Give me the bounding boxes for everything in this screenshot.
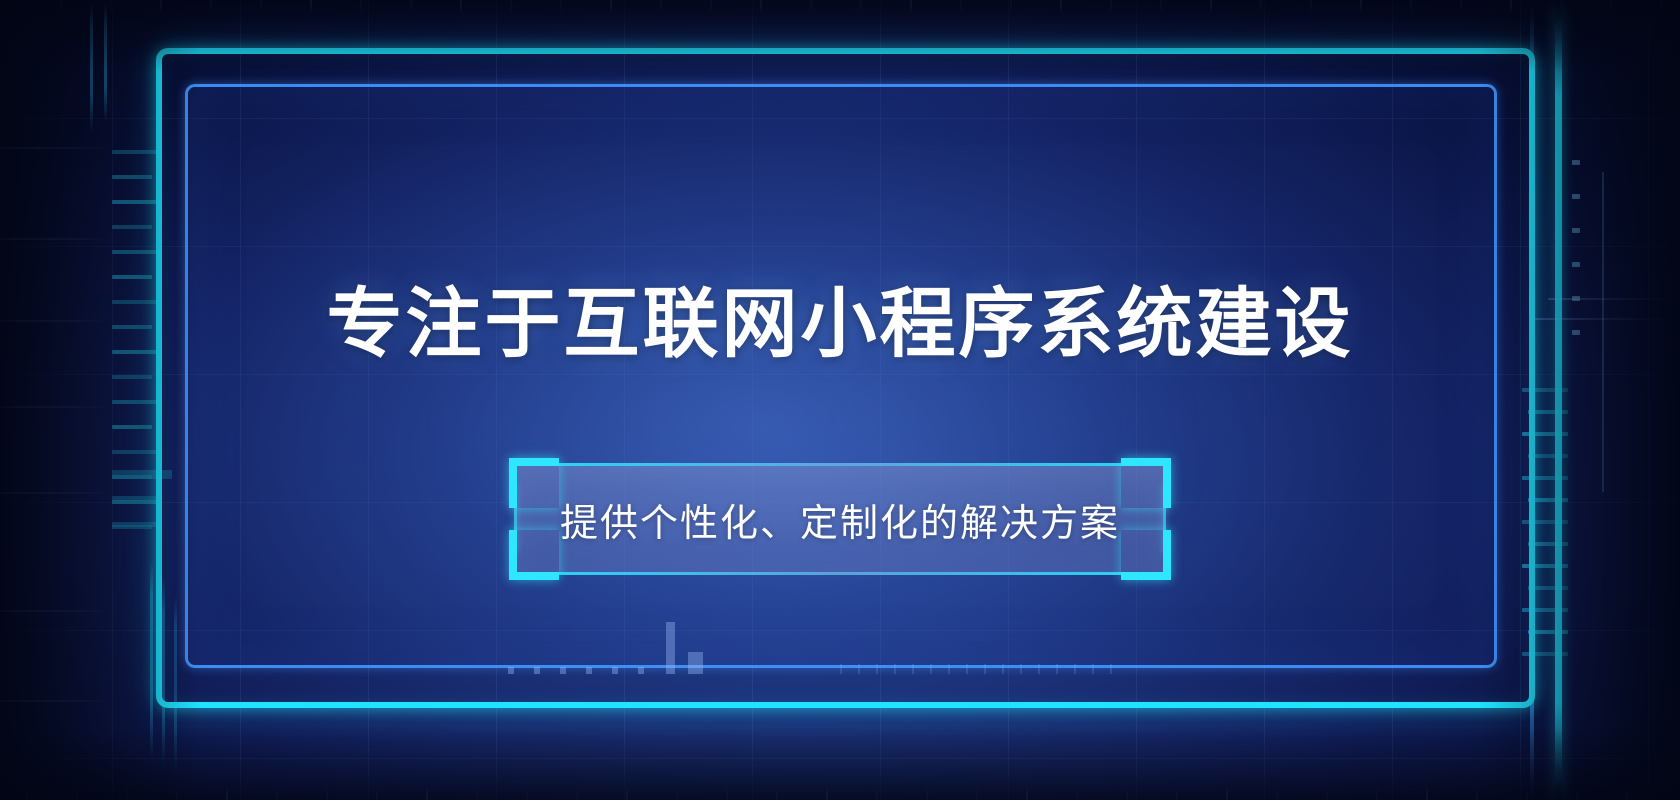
tick-mark: [1626, 787, 1628, 800]
subtitle-frame: 提供个性化、定制化的解决方案: [517, 466, 1163, 572]
tick-mark: [1560, 0, 1562, 13]
tick-mark: [10, 0, 12, 13]
tick-mark: [840, 664, 842, 674]
mini-bar: [534, 667, 540, 674]
tick-mark: [810, 0, 812, 13]
top-ruler: [0, 0, 1680, 16]
tick-mark: [112, 200, 158, 204]
tick-mark: [112, 275, 152, 279]
tick-mark: [112, 522, 158, 527]
tick-mark: [1020, 664, 1022, 674]
tick-mark: [1260, 0, 1262, 13]
tick-mark: [510, 0, 512, 13]
right-glow-bar: [1530, 0, 1534, 800]
tick-mark: [112, 450, 158, 454]
tick-mark: [1110, 0, 1112, 13]
tick-mark: [426, 787, 428, 800]
tick-mark: [966, 664, 968, 674]
right-glow-bar: [1555, 0, 1562, 800]
tick-mark: [1526, 787, 1528, 800]
right-scale-ticks: [1522, 388, 1568, 678]
tick-mark: [984, 664, 986, 674]
tick-mark: [1528, 454, 1568, 458]
tick-mark: [1576, 787, 1578, 800]
tick-mark: [260, 0, 262, 13]
tick-mark: [1002, 664, 1004, 674]
tick-mark: [360, 0, 362, 13]
tick-mark: [776, 787, 778, 800]
pinstripe-decor: [150, 560, 153, 760]
tick-mark: [226, 787, 228, 800]
rule-decor: [0, 238, 104, 240]
tick-mark: [1522, 476, 1568, 480]
tick-mark: [1160, 0, 1162, 13]
tick-mark: [1572, 296, 1580, 301]
tick-mark: [112, 470, 172, 479]
tick-mark: [276, 787, 278, 800]
rule-decor: [0, 406, 104, 408]
rule-decor: [1530, 318, 1680, 320]
tick-mark: [610, 0, 612, 13]
tick-mark: [1210, 0, 1212, 13]
mini-bar: [612, 667, 618, 674]
tick-mark: [894, 664, 896, 674]
tick-mark: [1528, 542, 1568, 546]
tick-mark: [1326, 787, 1328, 800]
tick-mark: [310, 0, 312, 13]
tick-mark: [930, 664, 932, 674]
headline-container: 专注于互联网小程序系统建设: [0, 284, 1680, 366]
rule-decor: [0, 492, 104, 494]
tick-mark: [112, 250, 158, 254]
pinstripe-decor: [104, 0, 107, 122]
tick-mark: [1476, 787, 1478, 800]
tick-mark: [676, 787, 678, 800]
tick-mark: [112, 225, 152, 229]
tick-mark: [1038, 664, 1040, 674]
mini-bar: [560, 667, 566, 674]
rule-decor: [0, 700, 104, 702]
tick-mark: [112, 525, 152, 529]
page-title: 专注于互联网小程序系统建设: [327, 284, 1354, 366]
tick-mark: [112, 350, 158, 354]
tick-mark: [726, 787, 728, 800]
tick-mark: [1522, 432, 1568, 436]
mini-bar: [688, 652, 703, 674]
tick-mark: [1510, 0, 1512, 13]
tick-mark: [1376, 787, 1378, 800]
tick-mark: [858, 664, 860, 674]
tick-mark: [460, 0, 462, 13]
tick-mark: [1572, 194, 1580, 199]
tick-mark: [1460, 0, 1462, 13]
tick-mark: [1572, 160, 1580, 165]
left-scale-ticks: [112, 150, 158, 550]
tick-mark: [576, 787, 578, 800]
tick-mark: [112, 325, 152, 329]
tick-mark: [1060, 0, 1062, 13]
tick-mark: [1226, 787, 1228, 800]
tick-mark: [1522, 564, 1568, 568]
tick-mark: [112, 150, 158, 154]
tick-mark: [1528, 630, 1568, 634]
mini-bar: [666, 622, 675, 674]
tick-mark: [1572, 228, 1580, 233]
tick-mark: [112, 496, 158, 501]
mini-bar: [586, 667, 592, 674]
tick-mark: [1310, 0, 1312, 13]
edge-vignette: [0, 0, 1680, 800]
pinstripe-decor: [90, 0, 93, 132]
tick-mark: [1522, 608, 1568, 612]
tick-mark: [660, 0, 662, 13]
tick-mark: [976, 787, 978, 800]
tick-mark: [912, 664, 914, 674]
tick-mark: [210, 0, 212, 13]
pinstripe-decor: [162, 578, 165, 768]
tick-mark: [1522, 388, 1568, 392]
pinstripe-decor: [174, 596, 177, 776]
tick-mark: [110, 0, 112, 13]
tick-mark: [1610, 0, 1612, 13]
right-thin-line: [1602, 172, 1604, 492]
tick-mark: [826, 787, 828, 800]
tick-mark: [112, 175, 152, 179]
tick-mark: [760, 0, 762, 13]
tick-mark: [1056, 664, 1058, 674]
tick-mark: [112, 425, 152, 429]
tick-mark: [60, 0, 62, 13]
tick-mark: [948, 664, 950, 674]
tick-mark: [1572, 330, 1580, 335]
tick-mark: [926, 787, 928, 800]
tick-mark: [1528, 498, 1568, 502]
rule-decor: [1548, 298, 1680, 300]
tick-mark: [1360, 0, 1362, 13]
tick-mark: [710, 0, 712, 13]
page-subtitle: 提供个性化、定制化的解决方案: [517, 466, 1163, 572]
tick-mark: [1092, 664, 1094, 674]
tick-mark: [1026, 787, 1028, 800]
right-dash-column: [1572, 160, 1580, 360]
tick-mark: [112, 375, 152, 379]
mini-bar: [508, 667, 514, 674]
rule-decor: [0, 147, 104, 149]
background-grid: [0, 0, 1680, 800]
tick-mark: [1572, 262, 1580, 267]
tick-mark: [112, 300, 158, 304]
tick-mark: [160, 0, 162, 13]
tick-mark: [1126, 787, 1128, 800]
tick-mark: [860, 0, 862, 13]
tick-mark: [1276, 787, 1278, 800]
tick-mark: [1110, 664, 1112, 674]
tick-mark: [526, 787, 528, 800]
rule-decor: [0, 320, 104, 322]
tick-mark: [910, 0, 912, 13]
tick-mark: [1660, 0, 1662, 13]
tick-mark: [376, 787, 378, 800]
tick-mark: [1074, 664, 1076, 674]
tick-mark: [626, 787, 628, 800]
tick-mark: [112, 475, 152, 479]
left-scale-ticks-2: [112, 470, 158, 620]
tick-mark: [1010, 0, 1012, 13]
tick-mark: [1176, 787, 1178, 800]
tick-mark: [126, 787, 128, 800]
tick-mark: [1528, 410, 1568, 414]
tick-mark: [876, 787, 878, 800]
tick-mark: [326, 787, 328, 800]
inner-panel-frame: [185, 84, 1497, 668]
tick-mark: [1676, 787, 1678, 800]
subtitle-bottom-line: [517, 572, 1163, 575]
tick-mark: [112, 500, 158, 504]
tick-mark: [1522, 652, 1568, 656]
hero-banner: 专注于互联网小程序系统建设 提供个性化、定制化的解决方案: [0, 0, 1680, 800]
outer-neon-frame: [156, 48, 1535, 708]
tick-mark: [112, 400, 158, 404]
tick-mark: [1426, 787, 1428, 800]
rule-decor: [0, 610, 104, 612]
tick-mark: [876, 664, 878, 674]
tick-mark: [1076, 787, 1078, 800]
mini-tick-decor: [840, 662, 1130, 674]
bottom-ruler: [0, 784, 1680, 800]
tick-mark: [76, 787, 78, 800]
tick-mark: [476, 787, 478, 800]
tick-mark: [26, 787, 28, 800]
tick-mark: [176, 787, 178, 800]
mini-bar: [638, 667, 644, 674]
tick-mark: [1522, 520, 1568, 524]
tick-mark: [1410, 0, 1412, 13]
tick-mark: [410, 0, 412, 13]
tick-mark: [960, 0, 962, 13]
tick-mark: [560, 0, 562, 13]
mini-bar-decor: [508, 614, 768, 674]
tick-mark: [1528, 586, 1568, 590]
